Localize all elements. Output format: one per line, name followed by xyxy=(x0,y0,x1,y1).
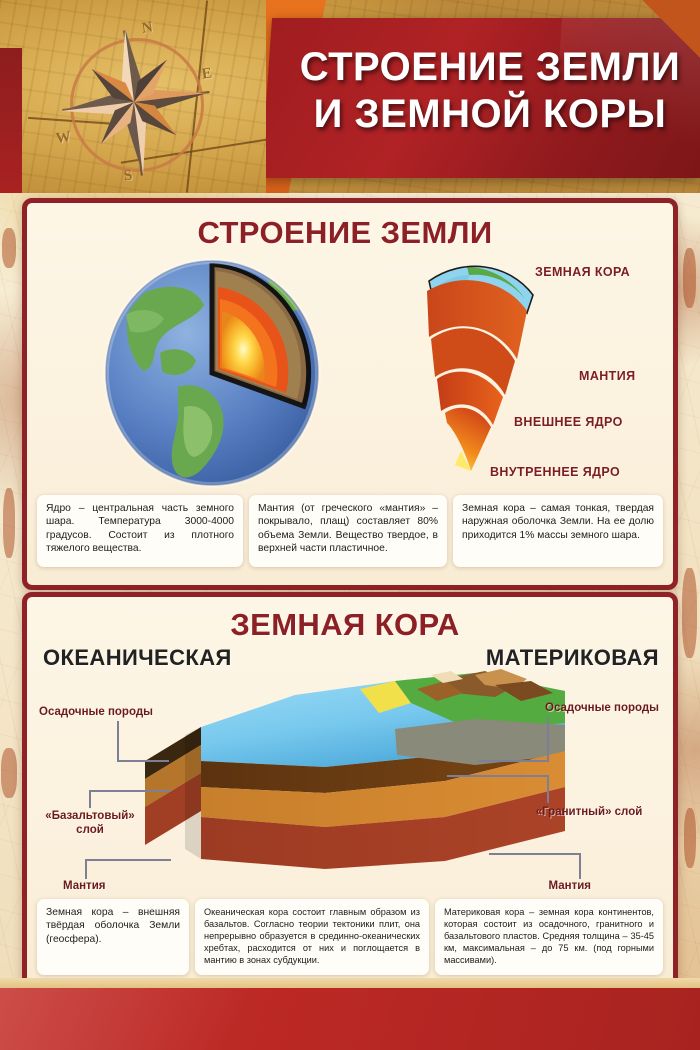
wedge-label-outer-core: ВНЕШНЕЕ ЯДРО xyxy=(514,415,623,429)
leader-right-granite-v xyxy=(547,775,549,803)
right-map-strip xyxy=(680,188,700,984)
note-crust: Земная кора – самая тонкая, твердая нару… xyxy=(453,495,663,567)
note-crust-definition-text: Земная кора – внешняя твёрдая оболочка З… xyxy=(37,899,189,954)
leader-left-sediment-v xyxy=(117,721,119,761)
compass-label-east: E xyxy=(201,65,213,83)
crust-label-left-mantle: Мантия xyxy=(63,879,105,893)
note-mantle: Мантия (от греческого «мантия» – покрыва… xyxy=(249,495,447,567)
crust-label-left-sediment: Осадочные породы xyxy=(39,705,153,719)
footer-red-band xyxy=(0,988,700,1050)
crust-label-right-sediment: Осадочные породы xyxy=(545,701,659,715)
subtitle-oceanic: ОКЕАНИЧЕСКАЯ xyxy=(43,645,232,671)
poster-header: N E W S СТРОЕНИЕ ЗЕМЛИ И ЗЕМНОЙ КОРЫ xyxy=(0,0,700,193)
panel-earth-title: СТРОЕНИЕ ЗЕМЛИ xyxy=(27,215,663,251)
leader-right-mantle-v xyxy=(579,853,581,879)
leader-left-mantle-h xyxy=(85,859,171,861)
note-continental-crust-text: Материковая кора – земная кора континент… xyxy=(435,899,663,974)
wedge-label-inner-core: ВНУТРЕННЕЕ ЯДРО xyxy=(490,465,620,479)
wedge-label-crust: ЗЕМНАЯ КОРА xyxy=(535,265,630,279)
earth-cutaway-globe xyxy=(100,257,324,489)
crust-label-right-mantle: Мантия xyxy=(549,879,591,893)
footer-gold-strip xyxy=(0,978,700,988)
compass-rose-icon: N E W S xyxy=(56,22,216,184)
note-crust-definition: Земная кора – внешняя твёрдая оболочка З… xyxy=(37,899,189,975)
header-left-red-bar xyxy=(0,48,22,193)
leader-right-sediment-v xyxy=(547,717,549,761)
compass-label-north: N xyxy=(141,19,154,37)
leader-left-basalt-h xyxy=(89,790,171,792)
panel-crust-title: ЗЕМНАЯ КОРА xyxy=(27,607,663,643)
leader-right-sediment-h xyxy=(479,760,549,762)
earth-layers-wedge xyxy=(425,255,545,475)
poster-root: N E W S СТРОЕНИЕ ЗЕМЛИ И ЗЕМНОЙ КОРЫ СТР… xyxy=(0,0,700,1050)
header-corner-accent xyxy=(642,0,700,58)
subtitle-continental: МАТЕРИКОВАЯ xyxy=(486,645,659,671)
note-core-text: Ядро – центральная часть земного шара. Т… xyxy=(37,495,243,564)
note-mantle-text: Мантия (от греческого «мантия» – покрыва… xyxy=(249,495,447,564)
crust-label-left-basalt: «Базальтовый» слой xyxy=(35,809,145,837)
leader-right-mantle-h xyxy=(489,853,581,855)
panel-earth-structure: СТРОЕНИЕ ЗЕМЛИ xyxy=(22,198,678,590)
left-map-strip xyxy=(0,188,20,984)
panel-crust-structure: ЗЕМНАЯ КОРА ОКЕАНИЧЕСКАЯ МАТЕРИКОВАЯ xyxy=(22,592,678,990)
compass-label-west: W xyxy=(55,129,72,148)
crust-block-diagram xyxy=(145,669,565,869)
note-crust-text: Земная кора – самая тонкая, твердая нару… xyxy=(453,495,663,550)
note-continental-crust: Материковая кора – земная кора континент… xyxy=(435,899,663,975)
leader-left-mantle-v xyxy=(85,859,87,879)
compass-star-graphic xyxy=(56,22,216,184)
leader-left-basalt-v xyxy=(89,790,91,808)
note-core: Ядро – центральная часть земного шара. Т… xyxy=(37,495,243,567)
note-oceanic-crust-text: Океаническая кора состоит главным образо… xyxy=(195,899,429,974)
page-title: СТРОЕНИЕ ЗЕМЛИ И ЗЕМНОЙ КОРЫ xyxy=(280,44,700,138)
wedge-label-mantle: МАНТИЯ xyxy=(579,369,635,383)
leader-right-granite-h xyxy=(447,775,549,777)
leader-left-sediment-h xyxy=(117,760,169,762)
note-oceanic-crust: Океаническая кора состоит главным образо… xyxy=(195,899,429,975)
crust-label-right-granite: «Гранитный» слой xyxy=(533,805,645,819)
